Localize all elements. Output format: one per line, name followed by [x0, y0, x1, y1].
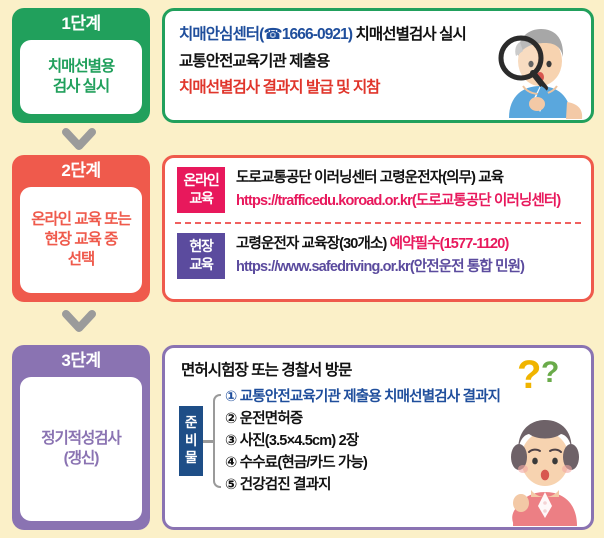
- online-education-link[interactable]: https://trafficedu.koroad.or.kr(도로교통공단 이…: [236, 190, 560, 213]
- step-2-content-card: 온라인 교육 도로교통공단 이러닝센터 고령운전자(의무) 교육 https:/…: [162, 155, 594, 302]
- step-3-label-card: 3단계 정기적성검사 (갱신): [12, 345, 150, 530]
- step-2-title-line1: 온라인 교육 또는: [31, 210, 130, 230]
- offline-education-row: 현장 교육 고령운전자 교육장(30개소) 예약필수(1577-1120) ht…: [165, 224, 591, 280]
- step-3-row: 3단계 정기적성검사 (갱신) 면허시험장 또는 경찰서 방문 준비물 ① 교통…: [0, 345, 604, 530]
- step-3-heading: 면허시험장 또는 경찰서 방문: [165, 348, 591, 380]
- online-education-text: 도로교통공단 이러닝센터 고령운전자(의무) 교육 https://traffi…: [225, 167, 560, 214]
- list-item: ④ 수수료(현금/카드 가능): [225, 452, 500, 474]
- step-2-number: 2단계: [61, 162, 100, 187]
- step-1-title-line2: 검사 실시: [53, 77, 109, 97]
- step-1-line-1: 치매안심센터(☎1666-0921) 치매선별검사 실시: [179, 22, 591, 49]
- list-item: ② 운전면허증: [225, 408, 500, 430]
- offline-education-venue: 고령운전자 교육장(30개소): [236, 236, 390, 252]
- step-1-content-card: 치매안심센터(☎1666-0921) 치매선별검사 실시 교통안전교육기관 제출…: [162, 8, 594, 123]
- step-2-title-line2: 현장 교육 중: [45, 230, 118, 250]
- step-1-text-block: 치매안심센터(☎1666-0921) 치매선별검사 실시 교통안전교육기관 제출…: [165, 11, 591, 102]
- preparation-label: 준비물: [179, 406, 203, 476]
- offline-education-link[interactable]: https://www.safedriving.or.kr(안전운전 통합 민원…: [236, 256, 524, 279]
- online-education-row: 온라인 교육 도로교통공단 이러닝센터 고령운전자(의무) 교육 https:/…: [165, 158, 591, 214]
- dementia-center-contact: 치매안심센터(☎1666-0921): [179, 26, 352, 43]
- offline-education-badge: 현장 교육: [177, 233, 225, 279]
- offline-education-text: 고령운전자 교육장(30개소) 예약필수(1577-1120) https://…: [225, 233, 524, 280]
- list-item: ③ 사진(3.5×4.5cm) 2장: [225, 430, 500, 452]
- step-3-title-line1: 정기적성검사: [41, 429, 121, 449]
- offline-education-reservation: 예약필수(1577-1120): [390, 236, 509, 252]
- step-2-title-pill: 온라인 교육 또는 현장 교육 중 선택: [20, 187, 142, 293]
- offline-badge-line1: 현장: [177, 238, 225, 256]
- online-education-badge: 온라인 교육: [177, 167, 225, 213]
- step-1-line-1-rest: 치매선별검사 실시: [352, 26, 466, 43]
- chevron-down-icon: [62, 310, 96, 332]
- step-1-title-line1: 치매선별용: [48, 57, 114, 77]
- step-3-title-pill: 정기적성검사 (갱신): [20, 377, 142, 521]
- step-1-line-2: 교통안전교육기관 제출용: [179, 49, 591, 76]
- step-1-label-card: 1단계 치매선별용 검사 실시: [12, 8, 150, 123]
- online-badge-line2: 교육: [177, 190, 225, 208]
- online-education-description: 도로교통공단 이러닝센터 고령운전자(의무) 교육: [236, 167, 560, 190]
- online-badge-line1: 온라인: [177, 172, 225, 190]
- preparation-items-group: 준비물 ① 교통안전교육기관 제출용 치매선별검사 결과지 ② 운전면허증 ③ …: [165, 380, 591, 496]
- step-3-number: 3단계: [61, 352, 100, 377]
- list-item: ⑤ 건강검진 결과지: [225, 474, 500, 496]
- infographic-page: 1단계 치매선별용 검사 실시 치매안심센터(☎1666-0921) 치매선별검…: [0, 0, 604, 538]
- brace-connector: [208, 386, 221, 496]
- step-1-number: 1단계: [61, 15, 100, 40]
- preparation-list: ① 교통안전교육기관 제출용 치매선별검사 결과지 ② 운전면허증 ③ 사진(3…: [221, 386, 500, 496]
- chevron-down-icon: [62, 128, 96, 150]
- step-1-line-3: 치매선별검사 결과지 발급 및 지참: [179, 75, 591, 102]
- step-2-label-card: 2단계 온라인 교육 또는 현장 교육 중 선택: [12, 155, 150, 302]
- step-2-row: 2단계 온라인 교육 또는 현장 교육 중 선택 온라인 교육 도로교통공단 이…: [0, 155, 604, 302]
- list-item: ① 교통안전교육기관 제출용 치매선별검사 결과지: [225, 386, 500, 408]
- step-2-title-line3: 선택: [68, 250, 95, 270]
- step-1-title-pill: 치매선별용 검사 실시: [20, 40, 142, 114]
- step-1-row: 1단계 치매선별용 검사 실시 치매안심센터(☎1666-0921) 치매선별검…: [0, 8, 604, 123]
- step-3-content-card: 면허시험장 또는 경찰서 방문 준비물 ① 교통안전교육기관 제출용 치매선별검…: [162, 345, 594, 530]
- offline-education-description: 고령운전자 교육장(30개소) 예약필수(1577-1120): [236, 233, 524, 256]
- offline-badge-line2: 교육: [177, 256, 225, 274]
- step-3-title-line2: (갱신): [64, 449, 99, 469]
